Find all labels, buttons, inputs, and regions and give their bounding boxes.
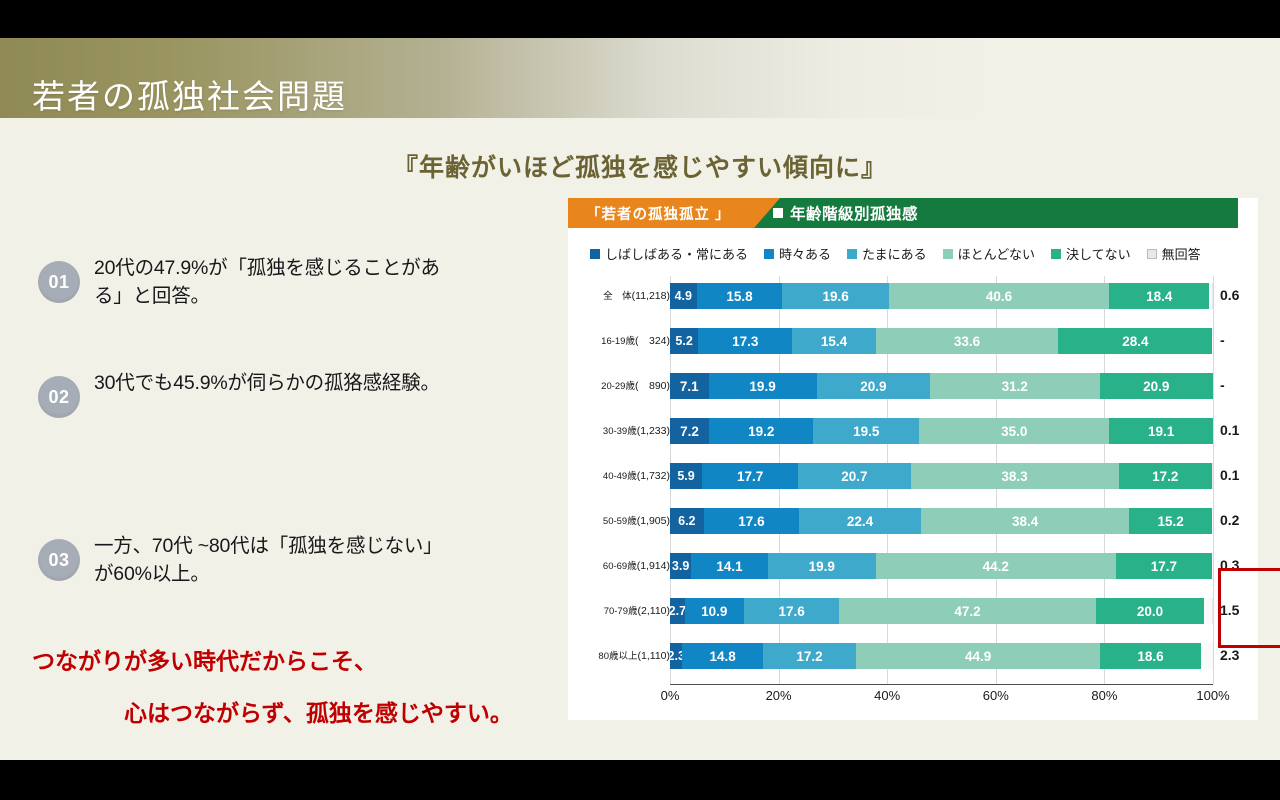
x-tick-label: 40% — [874, 688, 900, 703]
legend-swatch-icon — [1147, 249, 1157, 259]
chart-row-label: 80歳以上(1,110) — [568, 648, 670, 662]
chart-row-label: 全 体(11,218) — [568, 288, 670, 302]
slide-subtitle: 『年齢がいほど孤独を感じやすい傾向に』 — [0, 148, 1280, 184]
legend-label: しばしばある・常にある — [605, 244, 748, 263]
chart-card: 「若者の孤独孤立 」 年齢階級別孤独感 しばしばある・常にある時々あるたまにある… — [568, 198, 1258, 720]
chart-row-label: 20-29歳( 890) — [568, 378, 670, 393]
chart-banner-title-wrap: 年齢階級別孤独感 — [773, 202, 918, 224]
square-marker-icon — [773, 208, 783, 218]
chart-row-value-no-answer: 0.2 — [1220, 512, 1239, 528]
legend-swatch-icon — [1051, 249, 1061, 259]
chart-bar-track: 7.219.219.535.019.1 — [670, 418, 1213, 444]
chart-banner-tag: 「若者の孤独孤立 」 — [586, 203, 731, 224]
legend-swatch-icon — [764, 249, 774, 259]
chart-bar-segment: 10.9 — [685, 598, 744, 624]
chart-row-label: 60-69歳(1,914) — [568, 558, 670, 572]
chart-bar-segment: 40.6 — [889, 283, 1109, 309]
chart-row: 20-29歳( 890)7.119.920.931.220.9- — [568, 366, 1258, 411]
chart-bar-segment: 47.2 — [839, 598, 1095, 624]
chart-bar-track: 3.914.119.944.217.7 — [670, 553, 1213, 579]
chart-bar-segment: 35.0 — [919, 418, 1109, 444]
chart-bar-segment: 6.2 — [670, 508, 704, 534]
list-item: 01 20代の47.9%が「孤独を感じることがある」と回答。 — [38, 255, 508, 310]
chart-banner: 「若者の孤独孤立 」 年齢階級別孤独感 — [568, 198, 1238, 228]
page-title: 若者の孤独社会問題 — [32, 70, 347, 118]
chart-row-value-no-answer: 0.1 — [1220, 467, 1239, 483]
chart-bar-segment: 19.2 — [709, 418, 813, 444]
chart-bar-segment: 20.7 — [798, 463, 910, 489]
chart-bar-segment: 19.1 — [1109, 418, 1213, 444]
legend-swatch-icon — [847, 249, 857, 259]
chart-bar-segment: 28.4 — [1058, 328, 1212, 354]
chart-bar-track: 2.314.817.244.918.6 — [670, 643, 1213, 669]
bullet-list: 01 20代の47.9%が「孤独を感じることがある」と回答。 02 30代でも4… — [38, 255, 508, 414]
chart-row-value-no-answer: - — [1220, 377, 1225, 393]
legend-item-4[interactable]: 決してない — [1051, 244, 1131, 263]
chart-legend: しばしばある・常にある時々あるたまにあるほとんどない決してない無回答 — [590, 244, 1236, 263]
chart-bar-segment-no-answer — [1212, 463, 1213, 489]
chart-bar-segment: 7.2 — [670, 418, 709, 444]
chart-row: 16-19歳( 324)5.217.315.433.628.4- — [568, 321, 1258, 366]
chart-bar-segment: 3.9 — [670, 553, 691, 579]
chart-bar-segment: 7.1 — [670, 373, 709, 399]
chart-row: 50-59歳(1,905)6.217.622.438.415.20.2 — [568, 501, 1258, 546]
bullet-text-01: 20代の47.9%が「孤独を感じることがある」と回答。 — [94, 255, 454, 310]
bullet-badge-02: 02 — [38, 376, 80, 418]
chart-row-label: 16-19歳( 324) — [568, 333, 670, 348]
chart-row: 70-79歳(2,110)2.710.917.647.220.01.5 — [568, 591, 1258, 636]
chart-bar-segment: 19.9 — [768, 553, 876, 579]
x-tick-label: 20% — [766, 688, 792, 703]
chart-rows: 全 体(11,218)4.915.819.640.618.40.616-19歳(… — [568, 276, 1258, 681]
chart-row-label: 30-39歳(1,233) — [568, 423, 670, 437]
chart-bar-track: 5.217.315.433.628.4 — [670, 328, 1213, 354]
bullet-badge-03: 03 — [38, 539, 80, 581]
chart-axis-line — [670, 684, 1213, 685]
legend-item-0[interactable]: しばしばある・常にある — [590, 244, 748, 263]
chart-row-value-no-answer: 0.6 — [1220, 287, 1239, 303]
chart-bar-track: 5.917.720.738.317.2 — [670, 463, 1213, 489]
chart-row: 30-39歳(1,233)7.219.219.535.019.10.1 — [568, 411, 1258, 456]
chart-bar-segment: 38.3 — [911, 463, 1119, 489]
legend-swatch-icon — [943, 249, 953, 259]
chart-bar-segment-no-answer — [1212, 283, 1213, 309]
chart-bar-segment: 18.6 — [1100, 643, 1201, 669]
bullet-text-03: 一方、70代 ~80代は「孤独を感じない」が60%以上。 — [94, 533, 454, 588]
legend-label: 無回答 — [1162, 244, 1201, 263]
chart-bar-segment: 17.6 — [744, 598, 840, 624]
chart-row: 40-49歳(1,732)5.917.720.738.317.20.1 — [568, 456, 1258, 501]
legend-label: 決してない — [1066, 244, 1131, 263]
bullet-badge-01: 01 — [38, 261, 80, 303]
conclusion-line-1: つながりが多い時代だからこそ、 — [32, 642, 377, 676]
legend-item-1[interactable]: 時々ある — [764, 244, 831, 263]
chart-bar-track: 6.217.622.438.415.2 — [670, 508, 1213, 534]
chart-bar-segment: 17.6 — [704, 508, 800, 534]
chart-bar-segment: 17.7 — [1116, 553, 1212, 579]
chart-bar-segment: 2.3 — [670, 643, 682, 669]
chart-bar-segment-no-answer — [1212, 598, 1213, 624]
chart-row-value-no-answer: 0.3 — [1220, 557, 1239, 573]
x-tick-label: 100% — [1196, 688, 1229, 703]
bullet-text-02: 30代でも45.9%が伺らかの孤狢感経験。 — [94, 370, 440, 398]
chart-bar-segment: 17.7 — [702, 463, 798, 489]
chart-bar-segment: 15.8 — [697, 283, 783, 309]
legend-item-5[interactable]: 無回答 — [1147, 244, 1201, 263]
chart-bar-segment: 2.7 — [670, 598, 685, 624]
chart-bar-segment: 14.1 — [691, 553, 768, 579]
chart-row-value-no-answer: - — [1220, 332, 1225, 348]
chart-bar-segment: 20.9 — [1100, 373, 1213, 399]
chart-bar-segment: 20.0 — [1096, 598, 1205, 624]
slide-root: 若者の孤独社会問題 『年齢がいほど孤独を感じやすい傾向に』 01 20代の47.… — [0, 0, 1280, 800]
chart-bar-track: 7.119.920.931.220.9 — [670, 373, 1213, 399]
chart-row-label: 40-49歳(1,732) — [568, 468, 670, 482]
chart-row-value-no-answer: 2.3 — [1220, 647, 1239, 663]
chart-bar-track: 2.710.917.647.220.0 — [670, 598, 1213, 624]
x-tick-label: 0% — [661, 688, 680, 703]
chart-title: 年齢階級別孤独感 — [790, 202, 918, 224]
chart-row: 80歳以上(1,110)2.314.817.244.918.62.3 — [568, 636, 1258, 681]
chart-bar-segment: 19.9 — [709, 373, 817, 399]
chart-bar-segment: 4.9 — [670, 283, 697, 309]
chart-plot: 全 体(11,218)4.915.819.640.618.40.616-19歳(… — [568, 276, 1258, 716]
chart-bar-segment: 17.2 — [1119, 463, 1212, 489]
legend-swatch-icon — [590, 249, 600, 259]
chart-row-value-no-answer: 1.5 — [1220, 602, 1239, 618]
chart-bar-segment: 5.2 — [670, 328, 698, 354]
chart-row-label: 70-79歳(2,110) — [568, 603, 670, 617]
legend-item-3[interactable]: ほとんどない — [943, 244, 1035, 263]
chart-bar-segment: 17.3 — [698, 328, 792, 354]
chart-bar-segment: 20.9 — [817, 373, 930, 399]
chart-bar-segment: 38.4 — [921, 508, 1130, 534]
chart-row-label: 50-59歳(1,905) — [568, 513, 670, 527]
chart-bar-segment: 14.8 — [682, 643, 762, 669]
legend-label: ほとんどない — [958, 244, 1035, 263]
x-tick-label: 80% — [1091, 688, 1117, 703]
chart-bar-track: 4.915.819.640.618.4 — [670, 283, 1213, 309]
x-tick-label: 60% — [983, 688, 1009, 703]
chart-bar-segment: 44.2 — [876, 553, 1116, 579]
chart-bar-segment: 33.6 — [876, 328, 1058, 354]
chart-row: 60-69歳(1,914)3.914.119.944.217.70.3 — [568, 546, 1258, 591]
chart-bar-segment: 5.9 — [670, 463, 702, 489]
chart-bar-segment: 19.5 — [813, 418, 919, 444]
chart-row: 全 体(11,218)4.915.819.640.618.40.6 — [568, 276, 1258, 321]
legend-label: 時々ある — [779, 244, 831, 263]
legend-label: たまにある — [862, 244, 927, 263]
conclusion-line-2: 心はつながらず、孤独を感じやすい。 — [124, 694, 513, 728]
chart-bar-segment: 31.2 — [930, 373, 1099, 399]
list-item: 03 一方、70代 ~80代は「孤独を感じない」が60%以上。 — [38, 533, 508, 588]
chart-bar-segment: 44.9 — [856, 643, 1100, 669]
chart-bar-segment: 17.2 — [763, 643, 856, 669]
chart-bar-segment: 18.4 — [1109, 283, 1209, 309]
legend-item-2[interactable]: たまにある — [847, 244, 927, 263]
chart-row-value-no-answer: 0.1 — [1220, 422, 1239, 438]
chart-x-axis: 0%20%40%60%80%100% — [670, 688, 1213, 708]
list-item: 02 30代でも45.9%が伺らかの孤狢感経験。 — [38, 370, 508, 418]
chart-bar-segment: 19.6 — [782, 283, 888, 309]
chart-bar-segment: 22.4 — [799, 508, 921, 534]
chart-bar-segment: 15.2 — [1129, 508, 1212, 534]
chart-bar-segment: 15.4 — [792, 328, 876, 354]
